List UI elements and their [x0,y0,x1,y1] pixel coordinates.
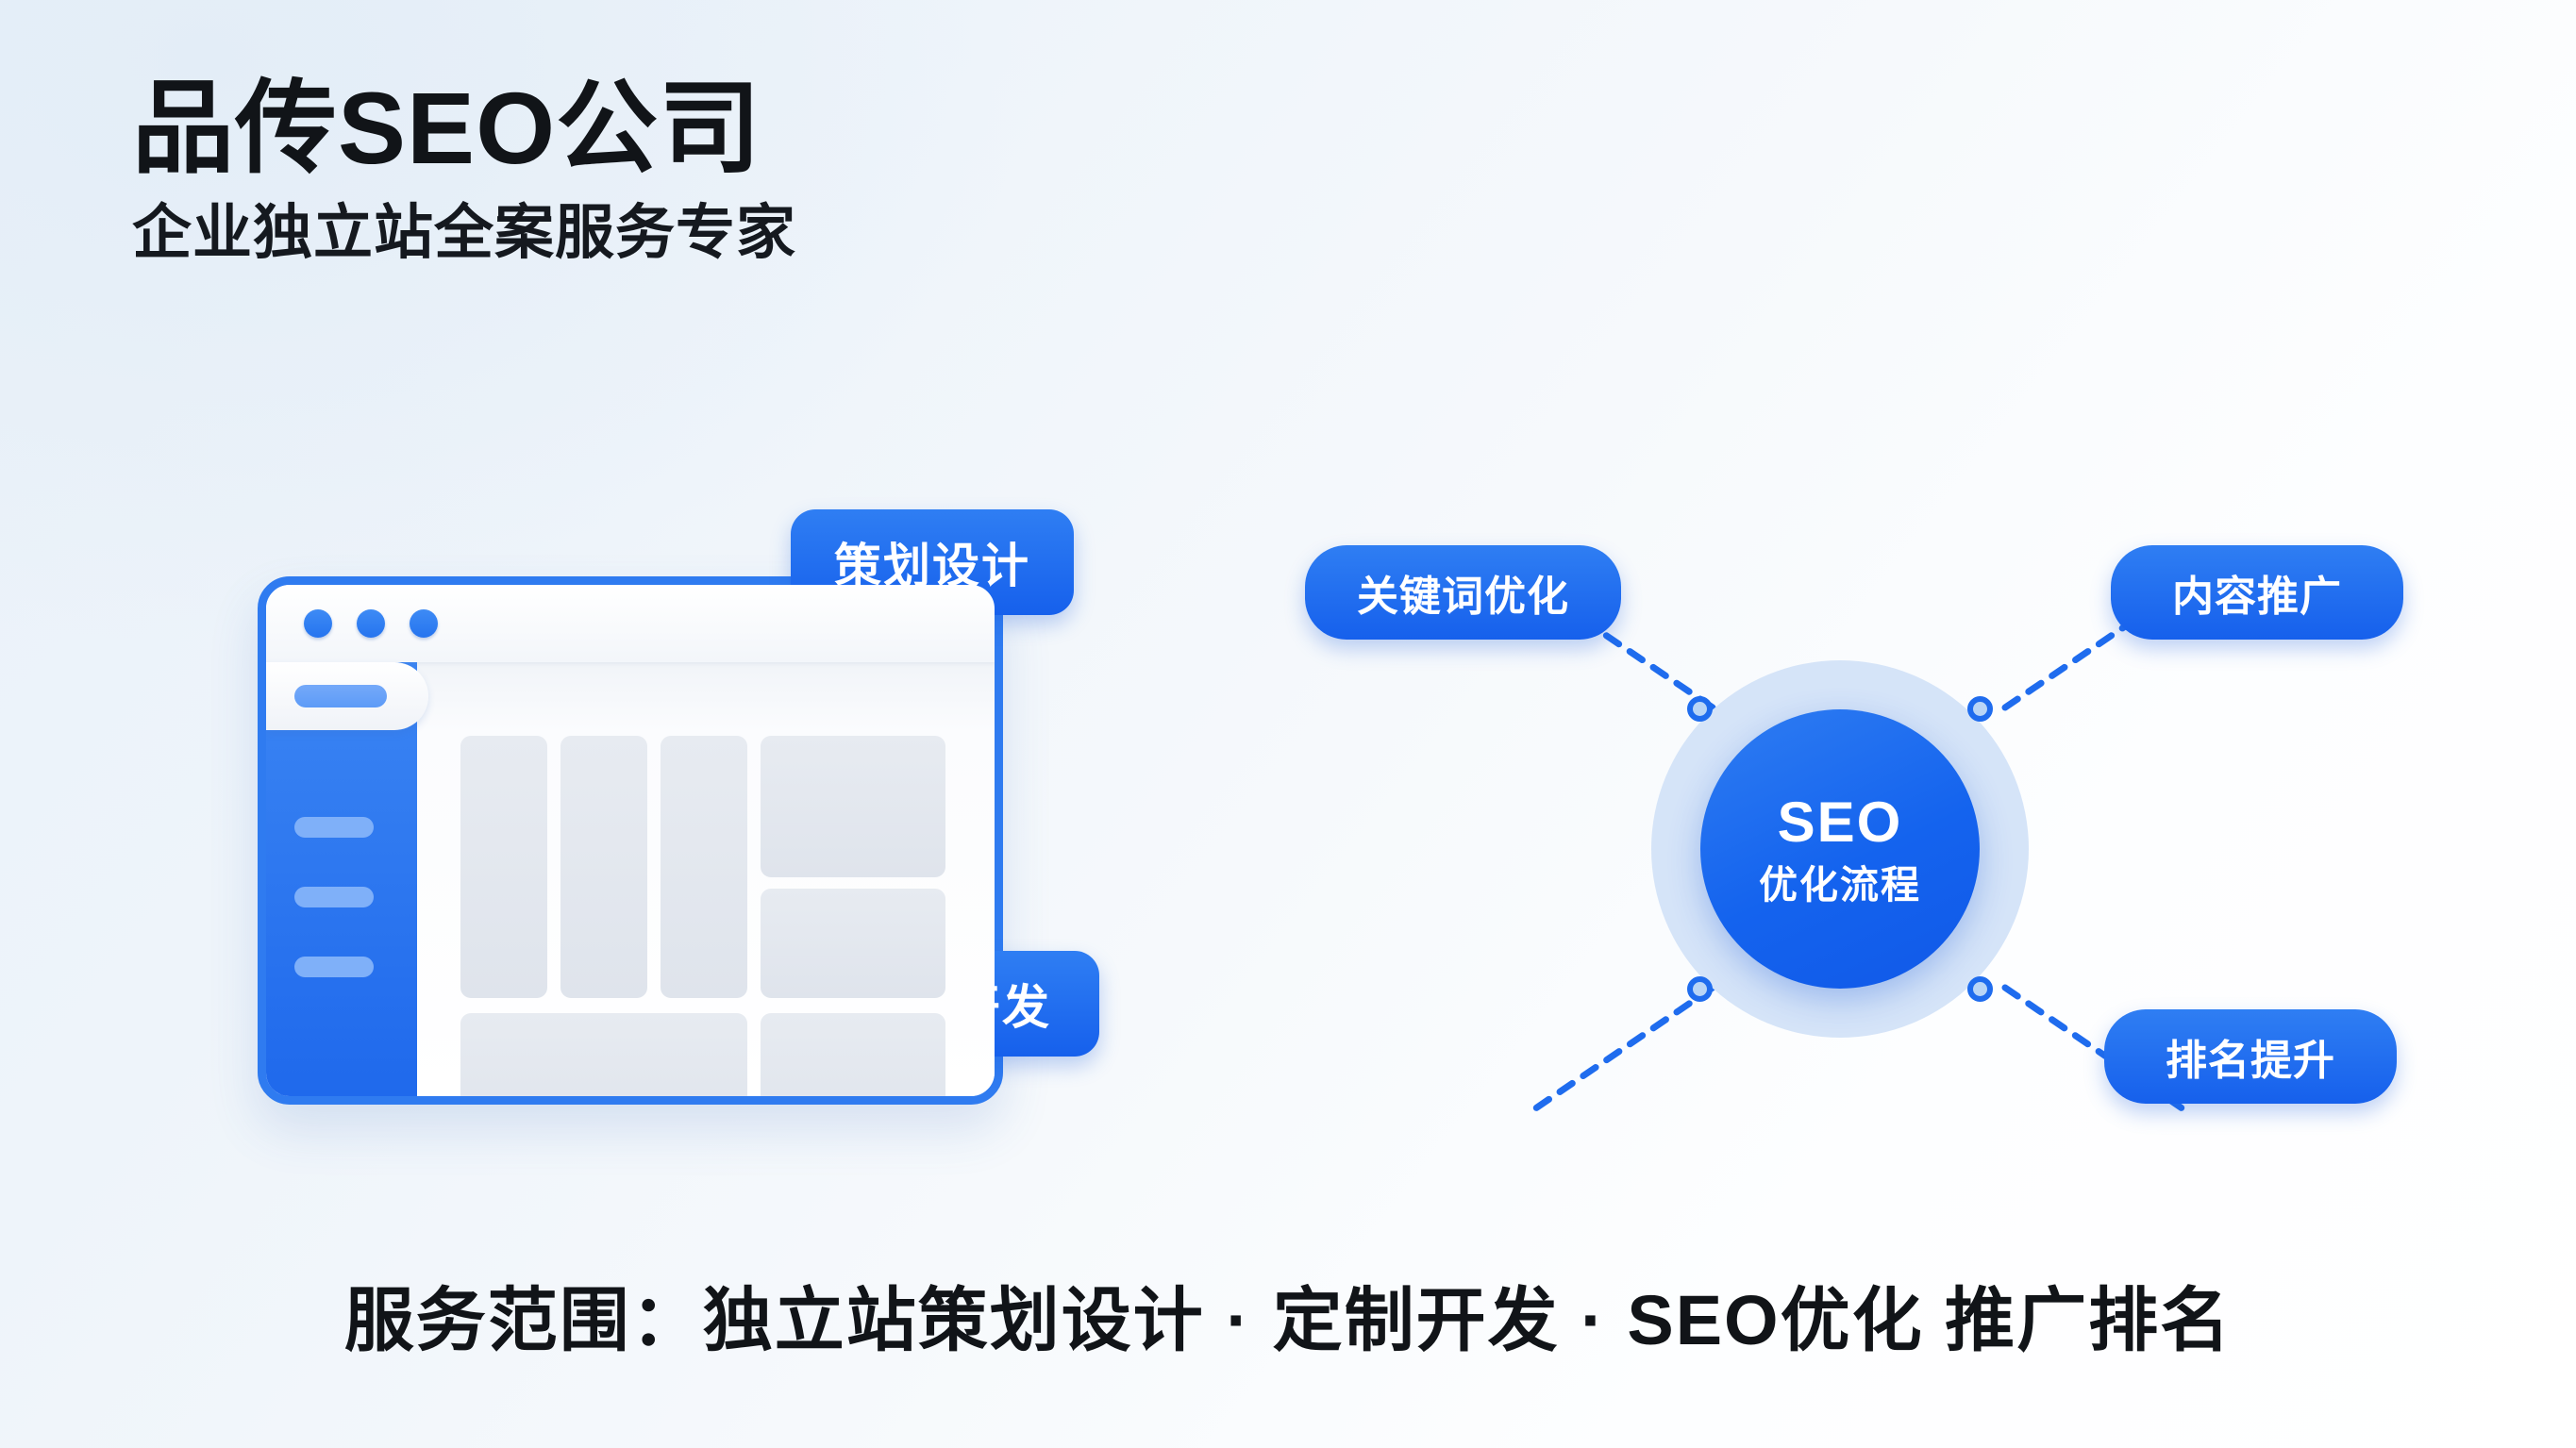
header-block: 品传SEO公司 企业独立站全案服务专家 [132,74,796,266]
pill-content-promotion[interactable]: 内容推广 [2111,545,2403,640]
window-dot-2-icon [357,609,385,638]
sidebar-item-active [266,662,428,730]
diagram-core-title: SEO [1778,794,1903,851]
content-block-right-bottom [761,889,945,998]
sidebar-item-1 [294,817,374,838]
diagram-core-subtitle: 优化流程 [1759,866,1921,905]
page-subtitle: 企业独立站全案服务专家 [132,201,796,266]
pill-ranking-improvement[interactable]: 排名提升 [2104,1009,2397,1104]
diagram-node-top-left-icon [1687,696,1713,722]
content-block-col-2 [560,736,647,998]
browser-window-frame [258,576,1003,1105]
content-block-bottom-left [460,1013,747,1105]
pill-keyword-optimization[interactable]: 关键词优化 [1305,545,1621,640]
content-block-col-1 [460,736,547,998]
sidebar-item-2 [294,887,374,907]
poster-canvas: 品传SEO公司 企业独立站全案服务专家 [0,0,2576,1448]
browser-content-area [417,662,995,1096]
sidebar-item-active-bar [294,685,387,707]
page-title: 品传SEO公司 [132,74,796,184]
diagram-node-top-right-icon [1967,696,1993,722]
window-dot-3-icon [410,609,438,638]
browser-titlebar [266,585,995,662]
window-dot-1-icon [304,609,332,638]
content-block-right-top [761,736,945,877]
diagram-node-bottom-left-icon [1687,976,1713,1002]
diagram-core: SEO 优化流程 [1700,709,1980,989]
content-block-bottom-right [761,1013,945,1105]
diagram-node-bottom-right-icon [1967,976,1993,1002]
browser-mockup-illustration [241,561,1024,1127]
content-block-col-3 [661,736,747,998]
footer-service-scope: 服务范围：独立站策划设计 · 定制开发 · SEO优化 推广排名 [0,1264,2576,1365]
sidebar-item-3 [294,957,374,977]
seo-process-diagram: SEO 优化流程 [1651,660,2029,1038]
